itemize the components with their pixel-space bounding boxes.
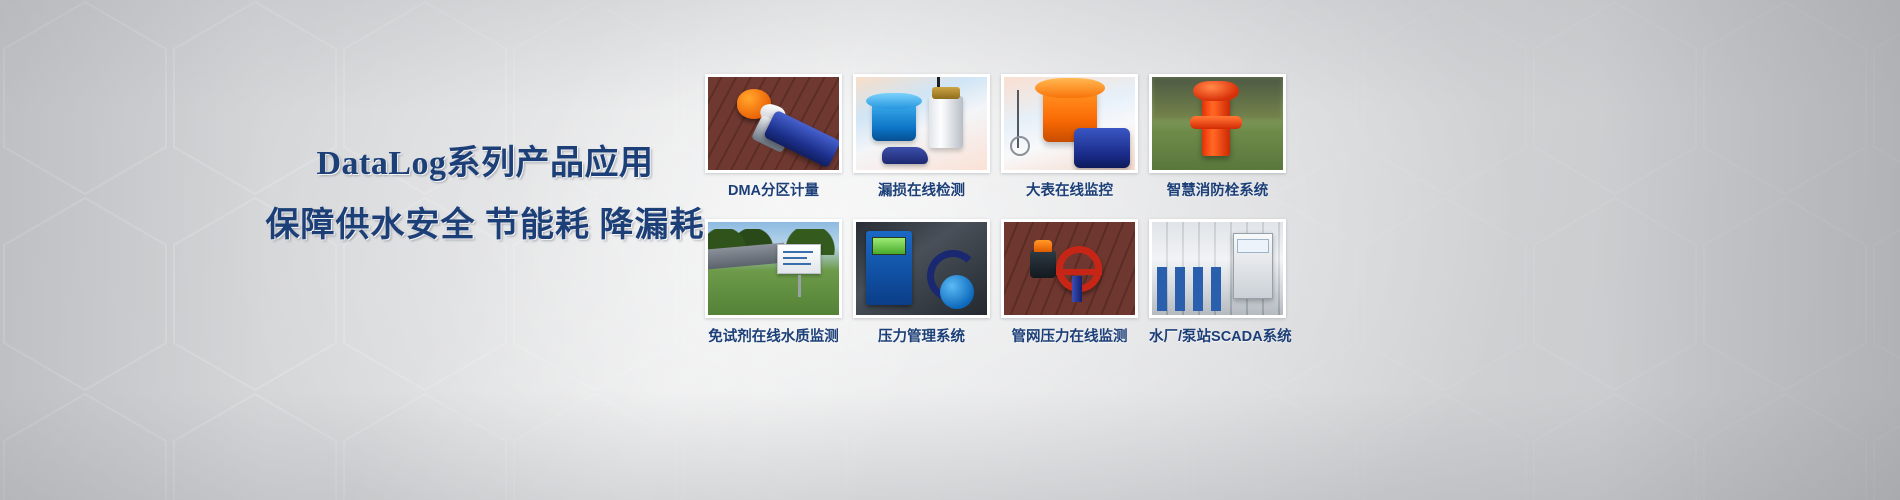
product-thumbnail-frame[interactable] <box>1001 74 1138 173</box>
product-thumbnail-frame[interactable] <box>1149 74 1286 173</box>
product-card-pipe-pressure[interactable]: 管网压力在线监测 <box>1001 219 1138 346</box>
smart-fire-hydrant-photo <box>1152 77 1283 170</box>
product-caption: 漏损在线检测 <box>853 182 990 200</box>
product-card-pressure-management[interactable]: 压力管理系统 <box>853 219 990 346</box>
dma-metering-pit-photo <box>708 77 839 170</box>
product-thumbnail-frame[interactable] <box>853 74 990 173</box>
large-meter-monitor-photo <box>1004 77 1135 170</box>
headline-line-2: 保障供水安全 节能耗 降漏耗 <box>255 204 715 248</box>
pipe-network-pressure-photo <box>1004 222 1135 315</box>
product-caption: 水厂/泵站SCADA系统 <box>1149 328 1286 346</box>
product-card-scada[interactable]: 水厂/泵站SCADA系统 <box>1149 219 1286 346</box>
headline-line-1: DataLog系列产品应用 <box>255 142 715 186</box>
product-thumbnail-frame[interactable] <box>705 74 842 173</box>
product-caption: 智慧消防栓系统 <box>1149 182 1286 200</box>
product-thumbnail-frame[interactable] <box>1149 219 1286 318</box>
product-card-leak-detection[interactable]: 漏损在线检测 <box>853 74 990 200</box>
product-card-smart-hydrant[interactable]: 智慧消防栓系统 <box>1149 74 1286 200</box>
product-caption: 大表在线监控 <box>1001 182 1138 200</box>
product-caption: DMA分区计量 <box>705 182 842 200</box>
product-thumbnail-frame[interactable] <box>705 219 842 318</box>
product-row-2: 免试剂在线水质监测 压力管理系统 <box>705 219 1285 346</box>
product-thumbnail-frame[interactable] <box>1001 219 1138 318</box>
product-card-water-quality[interactable]: 免试剂在线水质监测 <box>705 219 842 346</box>
product-caption: 免试剂在线水质监测 <box>705 328 842 346</box>
product-card-dma[interactable]: DMA分区计量 <box>705 74 842 200</box>
product-banner: DataLog系列产品应用 保障供水安全 节能耗 降漏耗 DMA分区计量 <box>0 0 1900 500</box>
headline-block: DataLog系列产品应用 保障供水安全 节能耗 降漏耗 <box>255 142 715 248</box>
scada-system-photo <box>1152 222 1283 315</box>
product-row-1: DMA分区计量 漏损在线检测 <box>705 74 1285 200</box>
leak-detection-device-photo <box>856 77 987 170</box>
pressure-management-cabinet-photo <box>856 222 987 315</box>
water-quality-station-photo <box>708 222 839 315</box>
product-caption: 管网压力在线监测 <box>1001 328 1138 346</box>
product-thumbnail-frame[interactable] <box>853 219 990 318</box>
product-card-large-meter[interactable]: 大表在线监控 <box>1001 74 1138 200</box>
product-grid: DMA分区计量 漏损在线检测 <box>705 74 1285 353</box>
product-caption: 压力管理系统 <box>853 328 990 346</box>
